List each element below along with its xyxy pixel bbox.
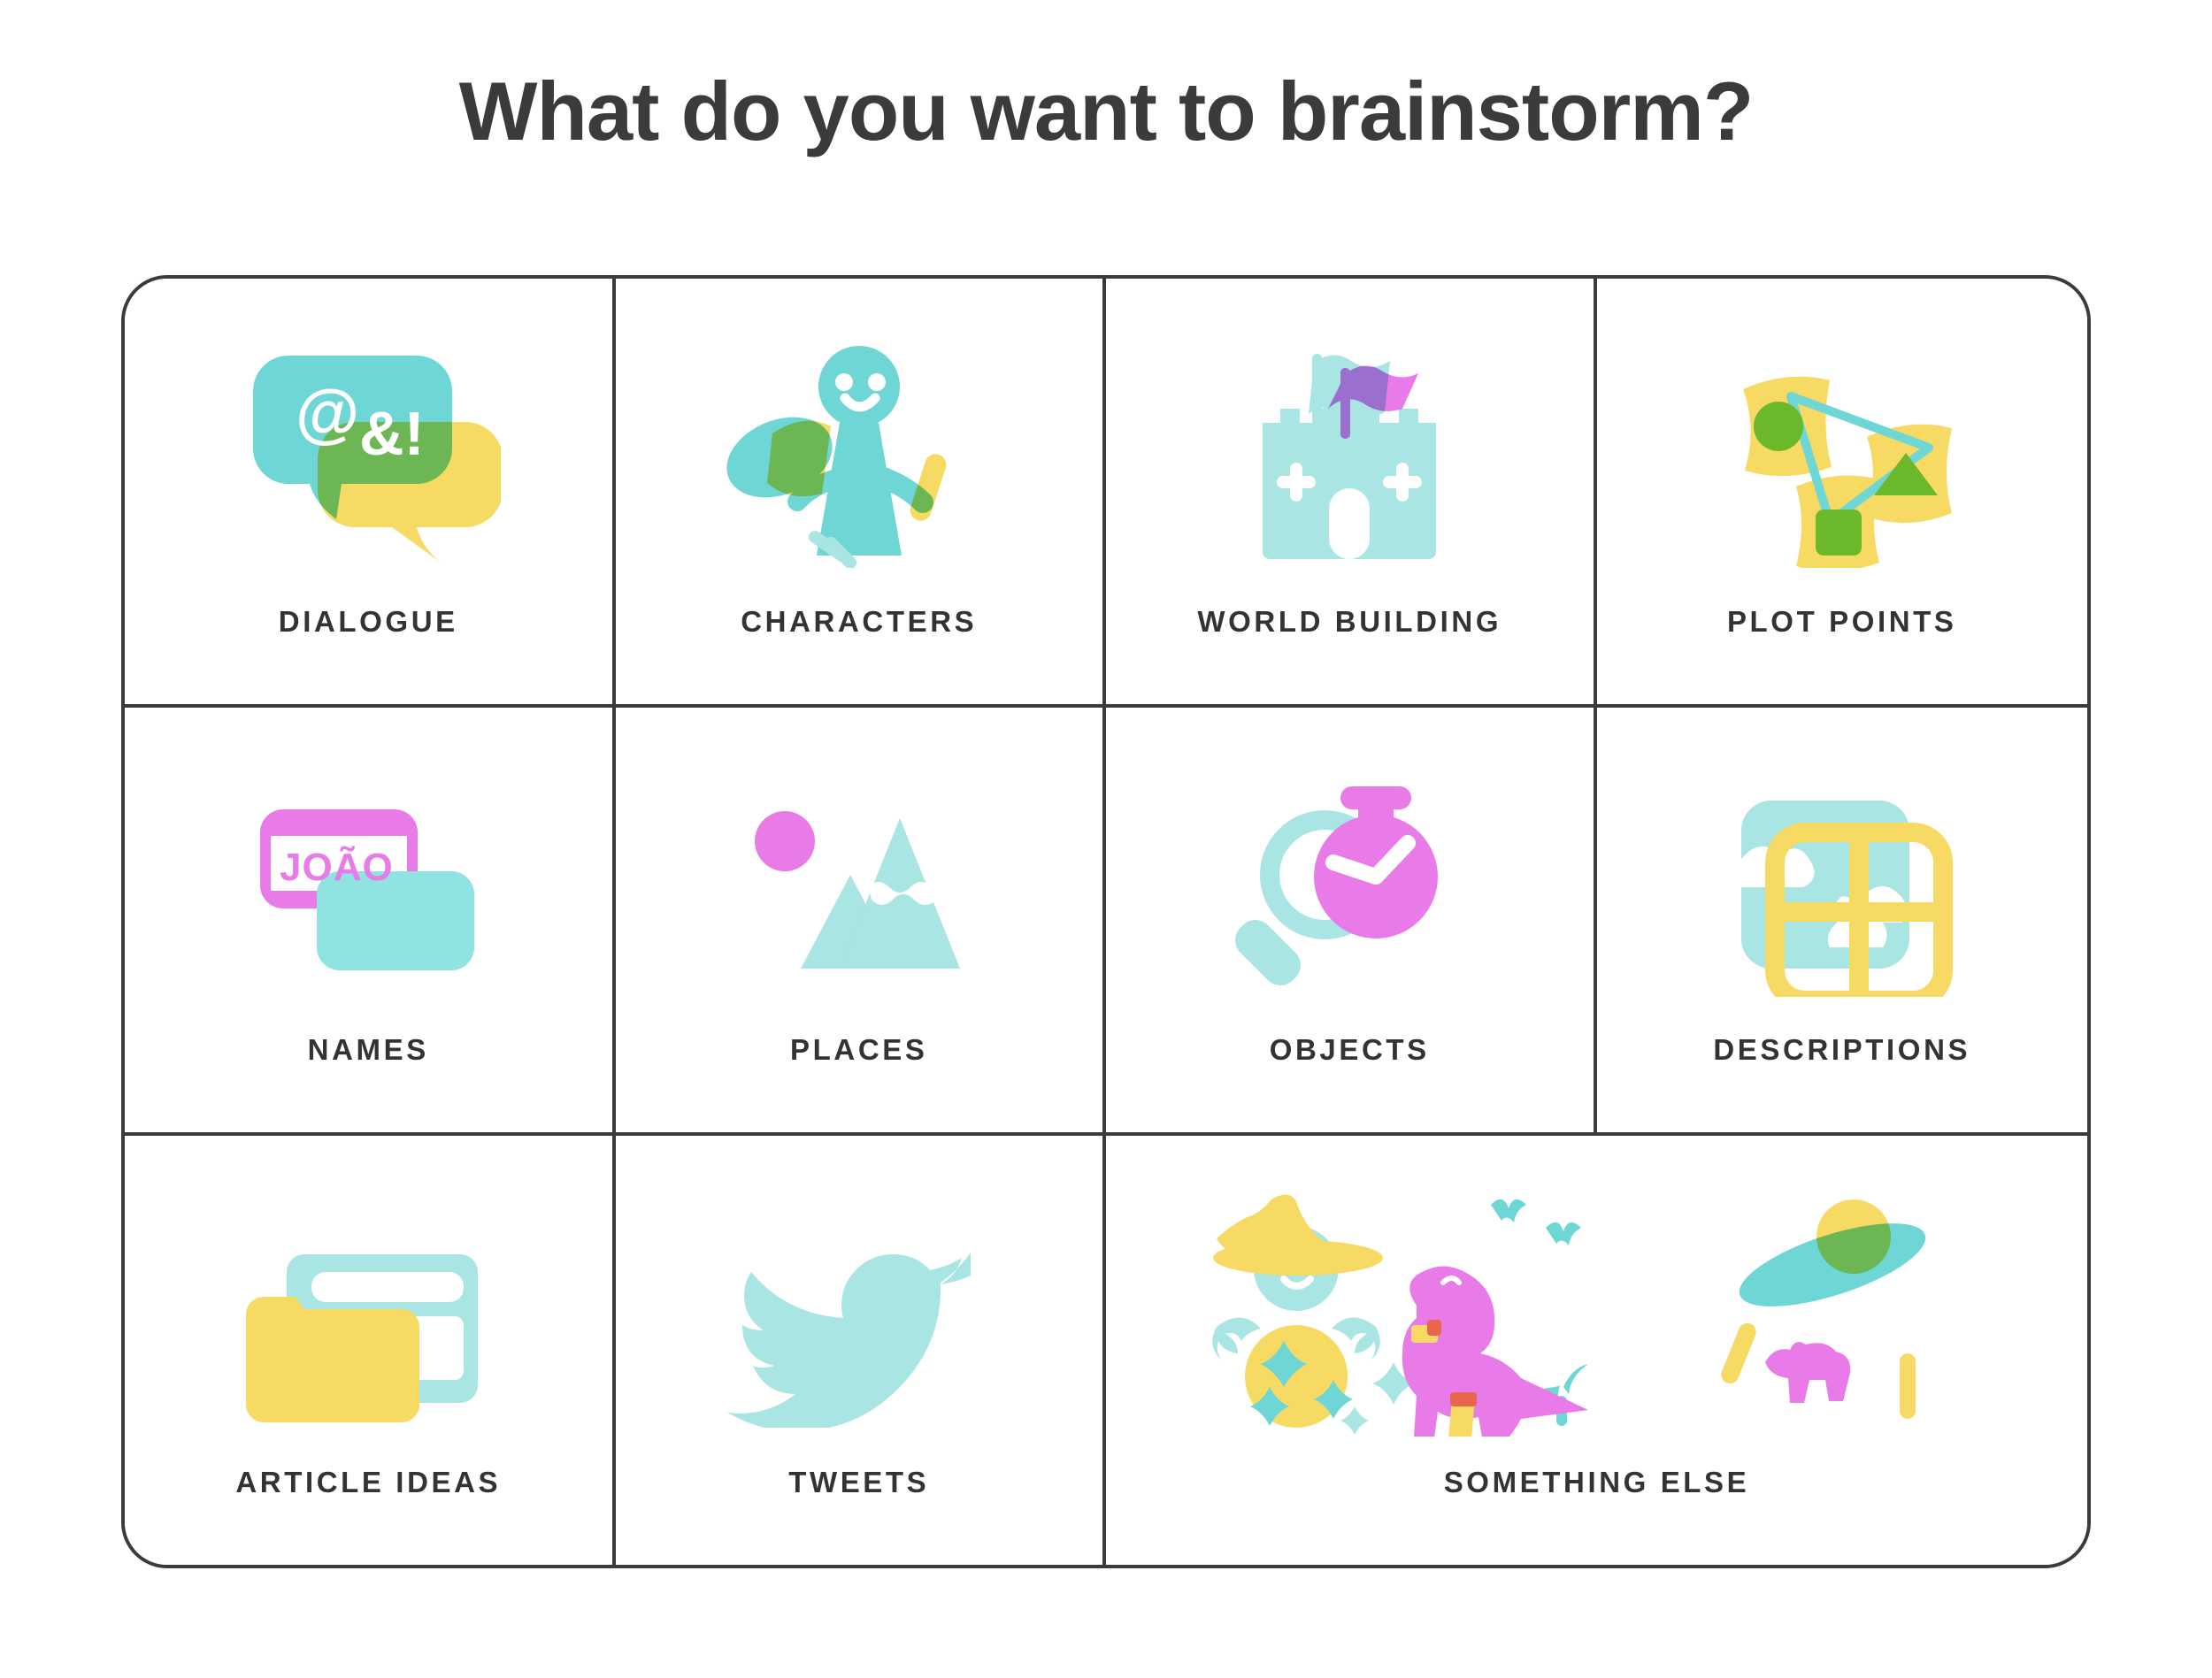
grid-cell-characters[interactable]: CHARACTERS	[616, 279, 1107, 708]
dinosaur	[1402, 1266, 1587, 1437]
category-grid-wrapper: @ &! DIALOGUE	[121, 275, 2091, 1568]
objects-art	[1106, 708, 1594, 1034]
clouds-grid-icon	[1709, 767, 1975, 997]
name-badges-icon: JOÃO HANA	[235, 767, 501, 997]
news-cards-icon	[235, 1198, 501, 1428]
tweets-art	[616, 1136, 1103, 1466]
magnifier-stopwatch-icon	[1217, 767, 1482, 997]
grid-cell-objects[interactable]: OBJECTS	[1106, 708, 1597, 1137]
grid-cell-plot-points[interactable]: PLOT POINTS	[1597, 279, 2088, 708]
cell-label-world-building: WORLD BUILDING	[1197, 605, 1502, 704]
wizard-dino-ufo-icon	[1199, 1189, 1995, 1437]
ufo-and-cow	[1718, 1199, 1934, 1419]
svg-text:HANA: HANA	[338, 908, 454, 951]
something-else-art	[1106, 1136, 2087, 1466]
mountains-icon	[726, 767, 992, 997]
places-art	[616, 708, 1103, 1034]
names-art: JOÃO HANA	[125, 708, 612, 1034]
cell-label-objects: OBJECTS	[1270, 1033, 1430, 1132]
cell-label-plot-points: PLOT POINTS	[1727, 605, 1957, 704]
characters-art	[616, 279, 1103, 605]
sticky-notes-icon	[1709, 338, 1975, 568]
grid-cell-tweets[interactable]: TWEETS	[616, 1136, 1107, 1565]
plot-points-art	[1597, 279, 2088, 605]
brainstorm-page: What do you want to brainstorm? @ &!	[0, 0, 2212, 1678]
grid-cell-article-ideas[interactable]: ARTICLE IDEAS	[125, 1136, 616, 1565]
svg-text:@: @	[296, 376, 359, 449]
castle-icon	[1217, 338, 1482, 568]
world-building-art	[1106, 279, 1594, 605]
page-title: What do you want to brainstorm?	[0, 0, 2212, 159]
fairy-icon	[726, 338, 992, 568]
cell-label-tweets: TWEETS	[788, 1466, 929, 1565]
cell-label-names: NAMES	[308, 1033, 429, 1132]
cell-label-dialogue: DIALOGUE	[279, 605, 458, 704]
twitter-bird-icon	[726, 1198, 992, 1428]
cell-label-descriptions: DESCRIPTIONS	[1713, 1033, 1970, 1132]
cell-label-characters: CHARACTERS	[741, 605, 977, 704]
cell-label-places: PLACES	[790, 1033, 927, 1132]
article-ideas-art	[125, 1136, 612, 1466]
grid-cell-world-building[interactable]: WORLD BUILDING	[1106, 279, 1597, 708]
grid-cell-descriptions[interactable]: DESCRIPTIONS	[1597, 708, 2088, 1137]
cell-label-something-else: SOMETHING ELSE	[1444, 1466, 1750, 1565]
wizard-figure	[1212, 1194, 1415, 1434]
grid-cell-dialogue[interactable]: @ &! DIALOGUE	[125, 279, 616, 708]
grid-cell-names[interactable]: JOÃO HANA NAMES	[125, 708, 616, 1137]
grid-cell-places[interactable]: PLACES	[616, 708, 1107, 1137]
svg-text:&!: &!	[359, 399, 425, 468]
descriptions-art	[1597, 708, 2088, 1034]
speech-bubbles-icon: @ &!	[235, 338, 501, 568]
svg-text:JOÃO: JOÃO	[280, 845, 394, 889]
cell-label-article-ideas: ARTICLE IDEAS	[235, 1466, 501, 1565]
dialogue-art: @ &!	[125, 279, 612, 605]
category-grid: @ &! DIALOGUE	[121, 275, 2091, 1568]
grid-cell-something-else[interactable]: SOMETHING ELSE	[1106, 1136, 2087, 1565]
